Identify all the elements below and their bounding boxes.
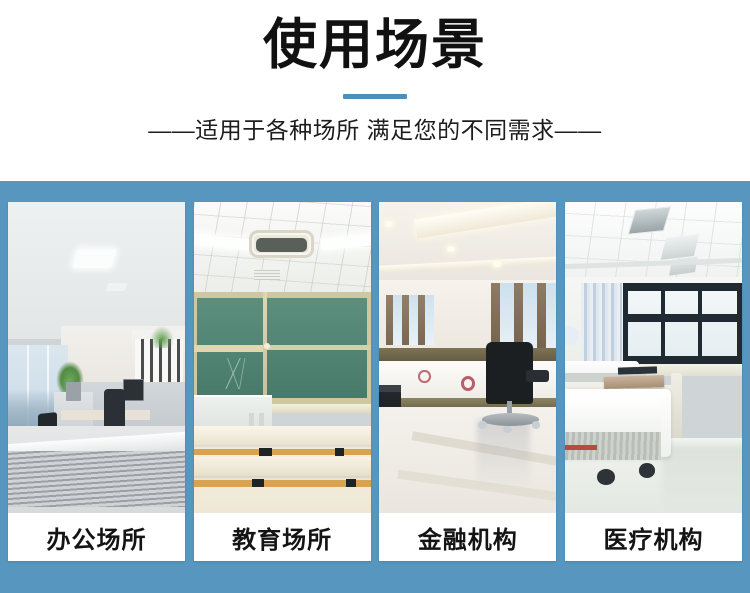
office-photo xyxy=(8,202,185,513)
hospital-window-mullion-4 xyxy=(737,283,742,364)
scene-card-caption: 金融机构 xyxy=(379,513,556,561)
bank-curtain-1 xyxy=(386,295,392,345)
office-ceiling-light-panel xyxy=(73,249,117,268)
hospital-window-frame-bottom xyxy=(623,356,742,364)
office-shelf-plant xyxy=(150,326,175,348)
classroom-desk-row-1 xyxy=(194,426,371,445)
bank-chair-caster-1 xyxy=(478,421,487,428)
classroom-ceiling-fan xyxy=(254,270,281,279)
bank-counter-emblem-1 xyxy=(418,370,430,383)
bank-dark-cabinet-top xyxy=(379,385,400,391)
page-subtitle: ——适用于各种场所 满足您的不同需求—— xyxy=(0,115,750,145)
classroom-chalkboard-divider-horizontal xyxy=(194,345,265,352)
bank-window-left xyxy=(388,295,434,345)
hospital-window-mullion-1 xyxy=(623,283,628,364)
office-monitor-2 xyxy=(66,382,80,401)
hospital-window-frame-middle xyxy=(623,314,742,322)
office-ceiling-light-panel-2 xyxy=(106,283,128,291)
hospital-bed-head-rail xyxy=(671,373,682,441)
classroom-desk-fitting-4 xyxy=(346,479,357,487)
scene-card-education[interactable]: 教育场所 xyxy=(194,202,371,561)
hospital-overbed-table xyxy=(604,375,665,390)
bank-curtain-3 xyxy=(418,295,424,345)
bank-counter-emblem-2 xyxy=(461,376,475,391)
scene-card-office[interactable]: 办公场所 xyxy=(8,202,185,561)
hospital-window-mullion-2 xyxy=(661,283,666,364)
hospital-floor-reflection xyxy=(662,445,742,513)
hospital-photo xyxy=(565,202,742,513)
scene-card-caption: 教育场所 xyxy=(194,513,371,561)
page-header: 使用场景 ——适用于各种场所 满足您的不同需求—— xyxy=(0,0,750,145)
hospital-bed-caster-2 xyxy=(639,463,655,477)
scene-card-finance[interactable]: 金融机构 xyxy=(379,202,556,561)
hospital-bed-mattress xyxy=(565,398,661,432)
scenes-band: 办公场所 xyxy=(0,181,750,593)
classroom-desk-fitting-3 xyxy=(252,479,264,487)
classroom-chalkboard-knob xyxy=(264,343,269,349)
bank-photo xyxy=(379,202,556,513)
office-monitor xyxy=(123,379,144,401)
classroom-desk-fitting-1 xyxy=(259,448,271,456)
bank-downlight-3 xyxy=(493,261,501,267)
page-title: 使用场景 xyxy=(0,14,750,76)
office-ceiling xyxy=(8,202,185,339)
scene-card-caption: 办公场所 xyxy=(8,513,185,561)
classroom-chalk-ledge xyxy=(272,404,371,413)
title-divider xyxy=(343,94,407,99)
hospital-overbed-table-dark xyxy=(618,366,657,375)
bank-chair-caster-3 xyxy=(532,421,541,428)
classroom-desk-row-2 xyxy=(194,457,371,476)
office-foreground-grille xyxy=(8,451,185,507)
scene-card-list: 办公场所 xyxy=(8,202,742,561)
classroom-desk-trim-1 xyxy=(194,449,371,455)
scene-card-healthcare[interactable]: 医疗机构 xyxy=(565,202,742,561)
hospital-bed-caster-1 xyxy=(597,469,615,485)
scene-card-caption: 医疗机构 xyxy=(565,513,742,561)
classroom-chalk-writing xyxy=(215,358,254,389)
classroom-air-conditioner-vent xyxy=(256,238,307,252)
bank-office-chair-armrest xyxy=(526,370,549,382)
hospital-bed-release-lever xyxy=(565,445,597,451)
hospital-window-mullion-3 xyxy=(698,283,703,364)
hospital-window-frame-top xyxy=(623,283,742,291)
hospital-window xyxy=(623,283,742,364)
classroom-photo xyxy=(194,202,371,513)
use-cases-page: 使用场景 ——适用于各种场所 满足您的不同需求—— xyxy=(0,0,750,593)
classroom-chalkboard-divider-horizontal-2 xyxy=(267,345,371,350)
classroom-desk-fitting-2 xyxy=(335,448,344,456)
bank-curtain-2 xyxy=(402,295,408,345)
classroom-desk-trim-2 xyxy=(194,480,371,486)
bank-curtain-6 xyxy=(537,283,546,351)
hospital-privacy-curtain xyxy=(581,283,622,370)
bank-office-chair-base xyxy=(482,413,539,425)
